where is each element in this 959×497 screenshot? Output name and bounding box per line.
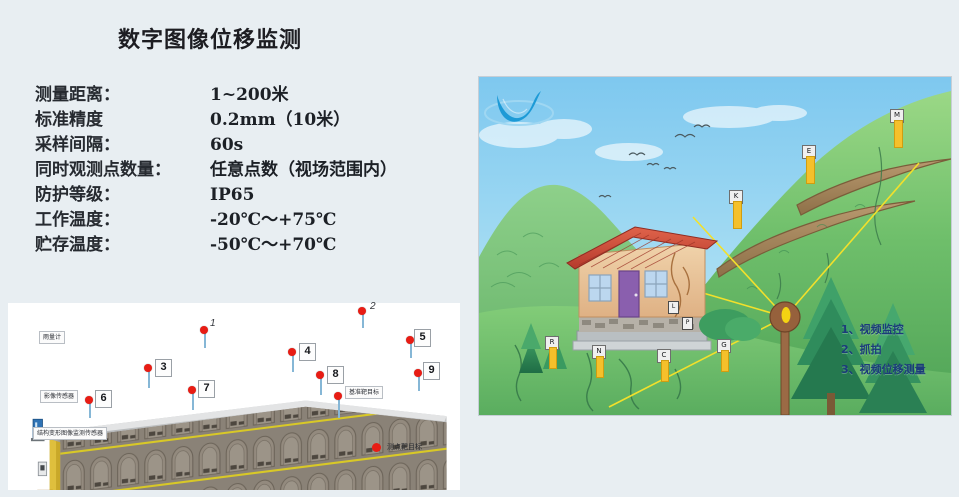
spec-label: 采样间隔： — [35, 133, 210, 158]
marker-post — [733, 201, 742, 229]
spec-label: 防护等级： — [35, 183, 210, 208]
measuring-point-dot — [406, 336, 414, 344]
spec-value: -50℃～+70℃ — [210, 233, 336, 258]
measuring-point-dot — [414, 369, 422, 377]
measuring-point-dot — [85, 396, 93, 404]
spec-label: 同时观测点数量： — [35, 158, 210, 183]
page-title: 数字图像位移监测 — [118, 22, 302, 54]
crack-marker-tag: P — [682, 317, 693, 330]
marker-post — [549, 347, 557, 369]
slope-monitoring-illustration: M E K L P R N C G 1、视频监控 2、抓拍 3、视频位移测量 — [478, 76, 952, 416]
point-badge: 6 — [95, 390, 112, 408]
point-badge: 3 — [155, 359, 172, 377]
spec-row: 工作温度： -20℃～+75℃ — [35, 208, 455, 233]
feature-list: 1、视频监控 2、抓拍 3、视频位移测量 — [841, 320, 926, 380]
specification-list: 测量距离： 1~200米 标准精度 0.2mm（10米） 采样间隔： 60s 同… — [35, 83, 455, 258]
measuring-point-dot — [358, 307, 366, 315]
feature-item-1: 1、视频监控 — [841, 320, 926, 340]
spec-value: IP65 — [210, 183, 254, 208]
feature-item-3: 3、视频位移测量 — [841, 360, 926, 380]
feature-item-2: 2、抓拍 — [841, 340, 926, 360]
spec-label: 工作温度： — [35, 208, 210, 233]
measuring-point-dot — [144, 364, 152, 372]
legend-label: 测点靶目标 — [387, 442, 422, 452]
callout-image-sensor: 影像传感器 — [40, 390, 78, 403]
image-sensor-icon — [38, 462, 46, 476]
spec-row: 同时观测点数量： 任意点数（视场范围内） — [35, 158, 455, 183]
marker-post — [721, 350, 729, 372]
spec-row: 标准精度 0.2mm（10米） — [35, 108, 455, 133]
spec-row: 测量距离： 1~200米 — [35, 83, 455, 108]
measuring-point-dot — [200, 326, 208, 334]
spec-row: 防护等级： IP65 — [35, 183, 455, 208]
callout-reference-target: 基准靶目标 — [345, 386, 383, 399]
marker-post — [596, 356, 604, 378]
point-badge: 9 — [423, 362, 440, 380]
marker-number: 1 — [210, 318, 216, 329]
spec-label: 标准精度 — [35, 108, 210, 133]
spec-label: 贮存温度： — [35, 233, 210, 258]
callout-rain-gauge: 雨量计 — [39, 331, 65, 344]
spec-value: -20℃～+75℃ — [210, 208, 336, 233]
marker-number: 2 — [370, 301, 376, 312]
measuring-point-dot — [316, 371, 324, 379]
spec-value: 任意点数（视场范围内） — [210, 158, 397, 183]
marker-post — [894, 120, 903, 148]
legend-dot-icon — [372, 443, 381, 452]
spec-value: 1~200米 — [210, 83, 289, 108]
spec-value: 0.2mm（10米） — [210, 108, 350, 133]
point-badge: 7 — [198, 380, 215, 398]
reference-target-dot — [334, 392, 342, 400]
marker-post — [661, 360, 669, 382]
spec-row: 贮存温度： -50℃～+70℃ — [35, 233, 455, 258]
point-badge: 5 — [414, 329, 431, 347]
spec-value: 60s — [210, 133, 243, 158]
callout-structural-sensor: 结构变形图像监测传感器 — [33, 427, 107, 440]
marker-post — [806, 156, 815, 184]
spec-row: 采样间隔： 60s — [35, 133, 455, 158]
measuring-point-dot — [188, 386, 196, 394]
diagram-legend: 测点靶目标 — [372, 442, 422, 452]
spec-label: 测量距离： — [35, 83, 210, 108]
point-badge: 4 — [299, 343, 316, 361]
crack-marker-tag: L — [668, 301, 679, 314]
point-badge: 8 — [327, 366, 344, 384]
measuring-point-dot — [288, 348, 296, 356]
